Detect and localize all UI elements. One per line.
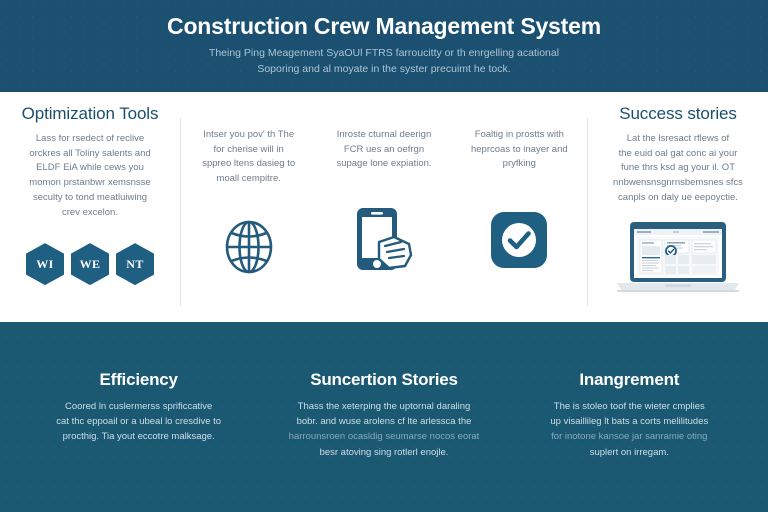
optimization-tools-heading: Optimization Tools <box>22 104 159 124</box>
feature-globe-body: Intser you pov' th The for cherise will … <box>202 128 295 187</box>
footer-efficiency-heading: Efficiency <box>100 370 178 390</box>
hexagon-badge-wi: WI <box>26 243 64 285</box>
body-line-4: moall cempitre. <box>202 172 295 187</box>
footer-suncertion-stories-heading: Suncertion Stories <box>310 370 458 390</box>
features-band: Optimization Tools Lass for rsedect of r… <box>0 92 768 322</box>
footer-column-suncertion-stories: Suncertion Stories Thass the xeterping t… <box>261 370 506 460</box>
body-line-6: crev excelon. <box>29 206 150 221</box>
footer-efficiency-body: Coored ln cuslermerss sprificcative cat … <box>56 399 221 445</box>
footer-suncertion-stories-body: Thass the xeterping the uptornal daralin… <box>289 399 480 460</box>
optimization-tools-panel: Optimization Tools Lass for rsedect of r… <box>0 104 180 322</box>
optimization-tools-body: Lass for rsedect of reclive orckres all … <box>29 132 150 220</box>
body-line-4: momon prstanbwr xemsnsse <box>29 176 150 191</box>
infographic-poster: Construction Crew Management System Thei… <box>0 0 768 512</box>
hexagon-badge-wi-label: WI <box>36 257 53 272</box>
body-line-1: The is stoleo toof the wieter cmplies <box>550 399 708 414</box>
header-subtitle-line-2: Soporing and al moyate in the syster pre… <box>84 62 684 77</box>
body-line-3: procthig. Tia yout eccotre malksage. <box>56 429 221 444</box>
footer-inangrement-heading: Inangrement <box>579 370 679 390</box>
check-circle-icon-slot <box>462 172 577 322</box>
body-line-5: seculty to tond meatluiwing <box>29 191 150 206</box>
body-line-1: Coored ln cuslermerss sprificcative <box>56 399 221 414</box>
body-line-2: bobr. and wuse arolens cf lte arlessca t… <box>289 414 480 429</box>
body-line-2: heprcoas to inayer and <box>471 143 568 158</box>
feature-mobile-body: Inroste cturnal deerign FCR ues an oefrg… <box>336 128 431 172</box>
body-line-2: the euid oal gat conc ai your <box>613 147 743 162</box>
body-line-4: suplert on irregam. <box>550 445 708 460</box>
footer-inangrement-body: The is stoleo toof the wieter cmplies up… <box>550 399 708 460</box>
header-banner: Construction Crew Management System Thei… <box>0 0 768 92</box>
body-line-2: cat thc eppoail or a ubeal lo cresdive t… <box>56 414 221 429</box>
body-line-1: Lat the lsresact rflews of <box>613 132 743 147</box>
laptop-dashboard-icon <box>613 220 743 294</box>
laptop-dashboard-icon-slot <box>598 206 758 322</box>
body-line-4: nnbwensnsgnrnsbemsnes sfcs <box>613 176 743 191</box>
body-line-3: sppreo ltens dasieg to <box>202 157 295 172</box>
success-stories-heading: Success stories <box>619 104 737 124</box>
check-circle-tile <box>491 212 547 268</box>
feature-column-mobile: Inroste cturnal deerign FCR ues an oefrg… <box>316 104 451 322</box>
hexagon-badge-nt-label: NT <box>126 257 143 272</box>
check-circle-icon <box>499 220 539 260</box>
body-line-2: up visaillileg lt bats a corts melilitud… <box>550 414 708 429</box>
globe-icon <box>220 218 278 276</box>
body-line-3: fune thrs ksd ag your il. OT <box>613 161 743 176</box>
body-line-2: for cherise will in <box>202 143 295 158</box>
body-line-2: orckres all Toliny salents and <box>29 147 150 162</box>
body-line-1: Inroste cturnal deerign <box>336 128 431 143</box>
header-subtitle: Theing Ping Meagement SyaOUl FTRS farrou… <box>84 46 684 76</box>
body-line-3: for inotone kansoe jar sanramie oting <box>550 429 708 444</box>
body-line-3: supage lone expiation. <box>336 157 431 172</box>
hexagon-badge-we: WE <box>71 243 109 285</box>
body-line-1: Thass the xeterping the uptornal daralin… <box>289 399 480 414</box>
feature-column-verified: Foaltig in prostts with heprcoas to inay… <box>452 104 587 322</box>
hexagon-badge-nt: NT <box>116 243 154 285</box>
footer-band: Efficiency Coored ln cuslermerss sprific… <box>0 322 768 512</box>
body-line-4: besr atoving sing rotlerl enojle. <box>289 445 480 460</box>
page-title: Construction Crew Management System <box>167 14 601 39</box>
hexagon-badges: WI WE NT <box>26 243 154 285</box>
success-stories-panel: Success stories Lat the lsresact rflews … <box>588 104 768 322</box>
feature-verified-body: Foaltig in prostts with heprcoas to inay… <box>471 128 568 172</box>
smartphone-touch-icon-slot <box>326 172 441 322</box>
body-line-2: FCR ues an oefrgn <box>336 143 431 158</box>
globe-icon-slot <box>191 187 306 322</box>
footer-column-inangrement: Inangrement The is stoleo toof the wiete… <box>507 370 752 460</box>
body-line-3: harrounsroen ocasldig seumarse nocos eor… <box>289 429 480 444</box>
body-line-3: ELDF EiA while cews you <box>29 161 150 176</box>
body-line-1: Intser you pov' th The <box>202 128 295 143</box>
hexagon-badges-slot: WI WE NT <box>10 220 170 322</box>
body-line-3: pryfking <box>471 157 568 172</box>
smartphone-touch-icon <box>349 206 419 274</box>
header-subtitle-line-1: Theing Ping Meagement SyaOUl FTRS farrou… <box>84 46 684 61</box>
hexagon-badge-we-label: WE <box>80 257 101 272</box>
body-line-1: Foaltig in prostts with <box>471 128 568 143</box>
success-stories-body: Lat the lsresact rflews of the euid oal … <box>613 132 743 206</box>
body-line-5: canpls on daly ue eepoyctie. <box>613 191 743 206</box>
body-line-1: Lass for rsedect of reclive <box>29 132 150 147</box>
footer-column-efficiency: Efficiency Coored ln cuslermerss sprific… <box>16 370 261 445</box>
feature-column-globe: Intser you pov' th The for cherise will … <box>181 104 316 322</box>
